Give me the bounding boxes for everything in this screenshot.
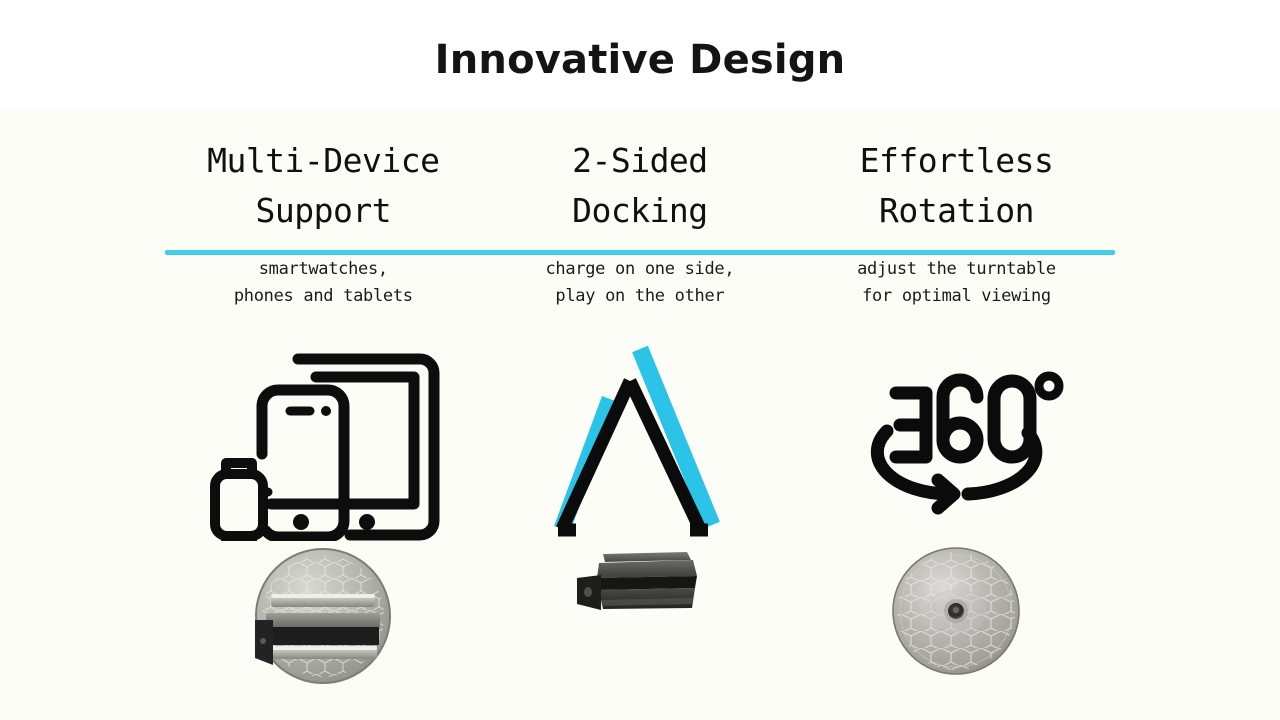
slotted-dock-disc-photo	[253, 546, 393, 686]
devices-icon	[198, 341, 448, 541]
360-rotation-icon	[844, 361, 1069, 521]
feature-icon-area	[540, 336, 740, 546]
feature-heading: 2-Sided Docking	[572, 132, 708, 240]
feature-subtext: charge on one side, play on the other	[546, 256, 735, 310]
feature-icon-area	[844, 336, 1069, 546]
feature-photo-area	[253, 546, 393, 696]
dock-cradle-photo	[575, 546, 705, 616]
feature-photo-area	[575, 546, 705, 696]
feature-heading: Effortless Rotation	[860, 132, 1054, 240]
feature-column-multi-device-support: Multi-Device Support smartwatches, phone…	[165, 132, 482, 696]
turntable-disc-photo	[891, 546, 1021, 676]
feature-subtext: smartwatches, phones and tablets	[234, 256, 413, 310]
feature-columns: Multi-Device Support smartwatches, phone…	[165, 132, 1115, 712]
feature-column-effortless-rotation: Effortless Rotation adjust the turntable…	[798, 132, 1115, 696]
two-sided-stand-icon	[540, 339, 740, 544]
slide-canvas: Innovative Design Multi-Device Support s…	[0, 0, 1280, 720]
feature-subtext: adjust the turntable for optimal viewing	[857, 256, 1056, 310]
page-title: Innovative Design	[0, 36, 1280, 84]
feature-column-2-sided-docking: 2-Sided Docking charge on one side, play…	[482, 132, 799, 696]
feature-icon-area	[198, 336, 448, 546]
feature-photo-area	[891, 546, 1021, 696]
feature-heading: Multi-Device Support	[207, 132, 439, 240]
